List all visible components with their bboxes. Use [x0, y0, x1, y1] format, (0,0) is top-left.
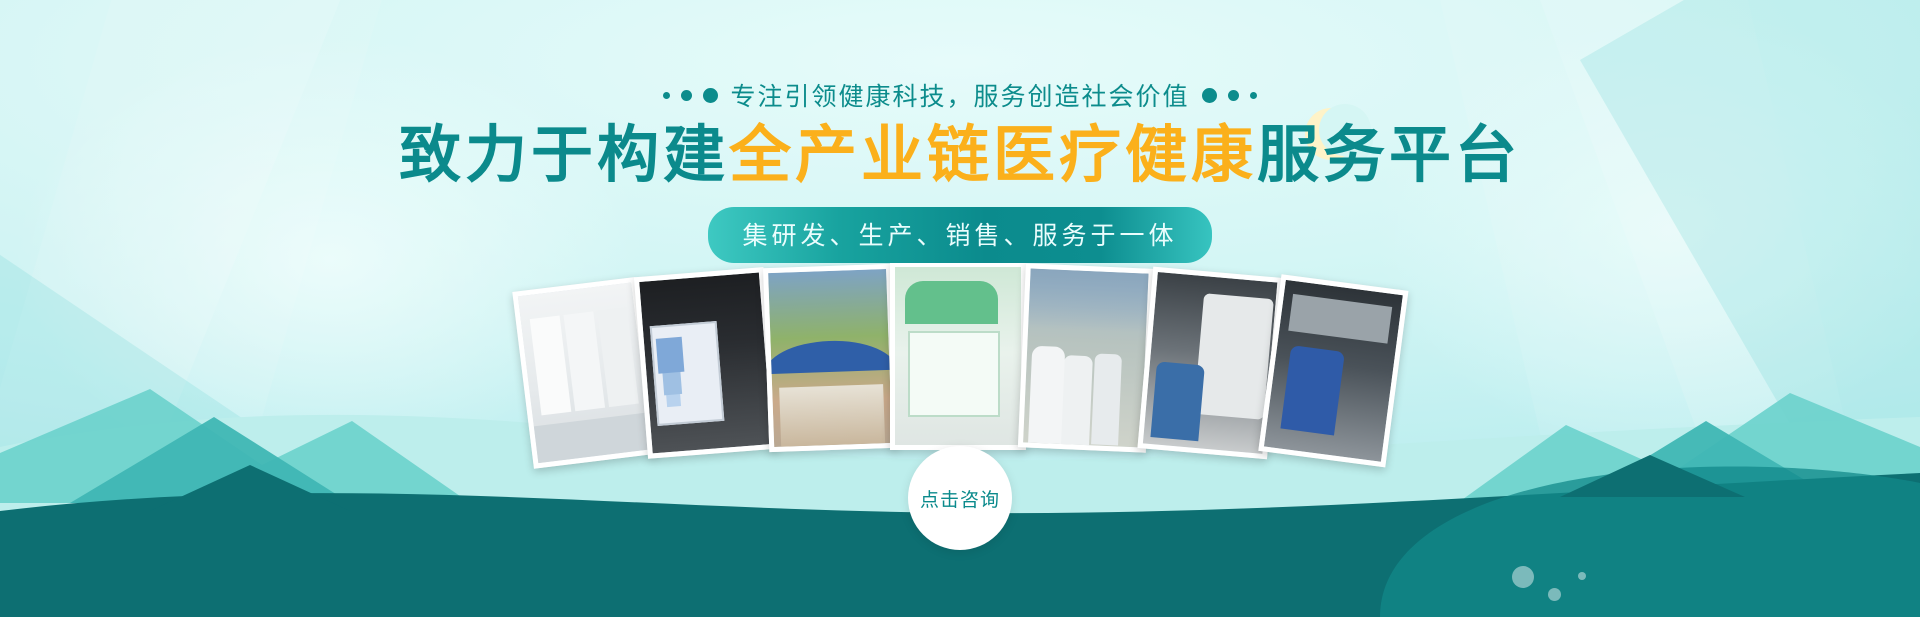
bubble-icon [1548, 588, 1561, 601]
headline-tail: 服务平台 [1257, 121, 1521, 190]
headline-block: 专注引领健康科技，服务创造社会价值 致力于构建全产业链医疗健康服务平台 集研发、… [0, 0, 1920, 263]
dot-group-left [663, 88, 718, 103]
headline-highlight: 全产业链医疗健康 [729, 121, 1257, 190]
tagline-text: 专注引领健康科技，服务创造社会价值 [730, 77, 1189, 113]
consult-button[interactable]: 点击咨询 [908, 446, 1012, 550]
headline-lead: 致力于构建 [399, 121, 729, 190]
dot-icon [681, 90, 692, 101]
dot-icon [663, 92, 670, 99]
tagline-row: 专注引领健康科技，服务创造社会价值 [0, 78, 1920, 112]
hero-banner: 专注引领健康科技，服务创造社会价值 致力于构建全产业链医疗健康服务平台 集研发、… [0, 0, 1920, 617]
bubble-icon [1578, 572, 1586, 580]
gallery-photo-medical-staff[interactable] [1018, 263, 1154, 452]
dot-icon [1228, 90, 1239, 101]
page-title: 致力于构建全产业链医疗健康服务平台 [0, 120, 1920, 191]
gallery-photo-monitor-station[interactable] [634, 267, 778, 459]
subtitle-badge: 集研发、生产、销售、服务于一体 [708, 207, 1211, 263]
dot-icon [1250, 92, 1257, 99]
dot-icon [1202, 88, 1217, 103]
dot-icon [703, 88, 718, 103]
gallery-photo-health-cabin[interactable] [890, 262, 1026, 450]
dot-group-right [1202, 88, 1257, 103]
gallery-photo-outdoor-clinic[interactable] [763, 264, 897, 452]
bubble-icon [1512, 566, 1534, 588]
photo-gallery [0, 262, 1920, 462]
gallery-photo-field-team[interactable] [1258, 274, 1408, 467]
